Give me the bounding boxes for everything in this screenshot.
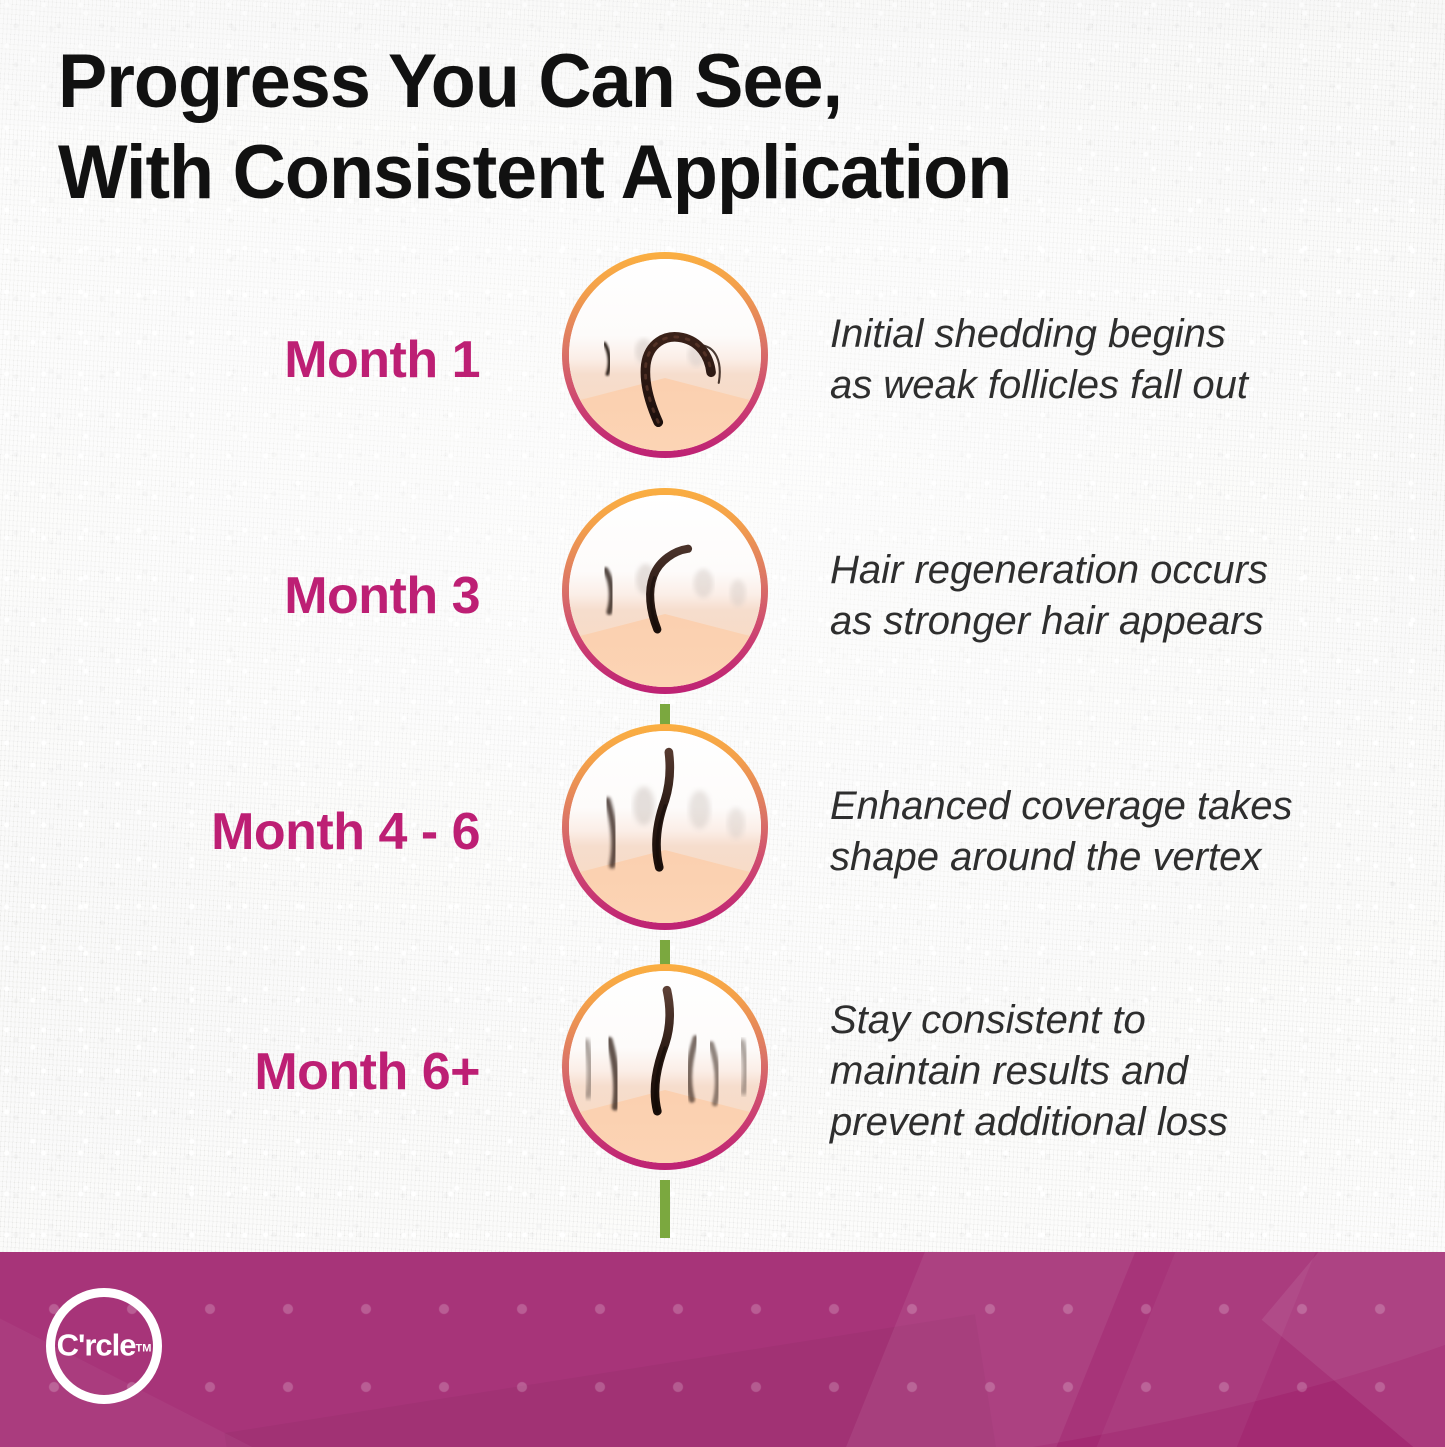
timeline-step-description: Initial shedding begins as weak follicle… (830, 309, 1390, 411)
description-line: shape around the vertex (830, 832, 1390, 883)
infographic-page: Progress You Can See, With Consistent Ap… (0, 0, 1445, 1447)
scalp-single-regrowth-icon (569, 495, 761, 687)
circle-brand-logo: C'rcleTM (46, 1288, 162, 1404)
timeline-step-month-label: Month 4 - 6 (80, 802, 480, 862)
page-title: Progress You Can See, With Consistent Ap… (58, 36, 1290, 218)
progress-timeline: Month 1 (0, 252, 1445, 1212)
gradient-ring (562, 488, 768, 694)
description-line: Initial shedding begins (830, 309, 1390, 360)
hair-strands (569, 731, 761, 923)
description-line: prevent additional loss (830, 1098, 1390, 1149)
trademark-symbol: TM (136, 1342, 152, 1354)
description-line: as stronger hair appears (830, 596, 1390, 647)
timeline-step: Month 1 (0, 252, 1445, 484)
timeline-step-image (562, 724, 768, 930)
timeline-step: Month 6+ (0, 964, 1445, 1196)
timeline-step-description: Stay consistent to maintain results and … (830, 995, 1390, 1149)
scalp-multiple-strands-icon (569, 971, 761, 1163)
timeline-step-month-label: Month 6+ (80, 1042, 480, 1102)
timeline-step-description: Enhanced coverage takes shape around the… (830, 781, 1390, 883)
timeline-step-month-label: Month 1 (80, 330, 480, 390)
scalp-follicle-shedding-icon (569, 259, 761, 451)
description-line: maintain results and (830, 1046, 1390, 1097)
gradient-ring (562, 724, 768, 930)
timeline-step-description: Hair regeneration occurs as stronger hai… (830, 545, 1390, 647)
timeline-step-image (562, 964, 768, 1170)
hair-strands (569, 495, 761, 687)
timeline-step-month-label: Month 3 (80, 566, 480, 626)
brand-logo-text: C'rcleTM (55, 1327, 153, 1363)
hair-strands (569, 259, 761, 451)
brand-name: C'rcle (57, 1327, 136, 1362)
hair-strands (569, 971, 761, 1163)
timeline-step: Month 4 - 6 (0, 724, 1445, 956)
description-line: as weak follicles fall out (830, 360, 1390, 411)
description-line: Hair regeneration occurs (830, 545, 1390, 596)
description-line: Stay consistent to (830, 995, 1390, 1046)
timeline-step: Month 3 (0, 488, 1445, 720)
gradient-ring (562, 252, 768, 458)
timeline-step-image (562, 252, 768, 458)
gradient-ring (562, 964, 768, 1170)
timeline-step-image (562, 488, 768, 694)
scalp-thicker-strand-icon (569, 731, 761, 923)
description-line: Enhanced coverage takes (830, 781, 1390, 832)
page-title-line-1: Progress You Can See, (58, 36, 1290, 127)
page-title-line-2: With Consistent Application (58, 127, 1290, 218)
brand-footer (0, 1252, 1445, 1447)
footer-dot-pattern (0, 1252, 1445, 1447)
